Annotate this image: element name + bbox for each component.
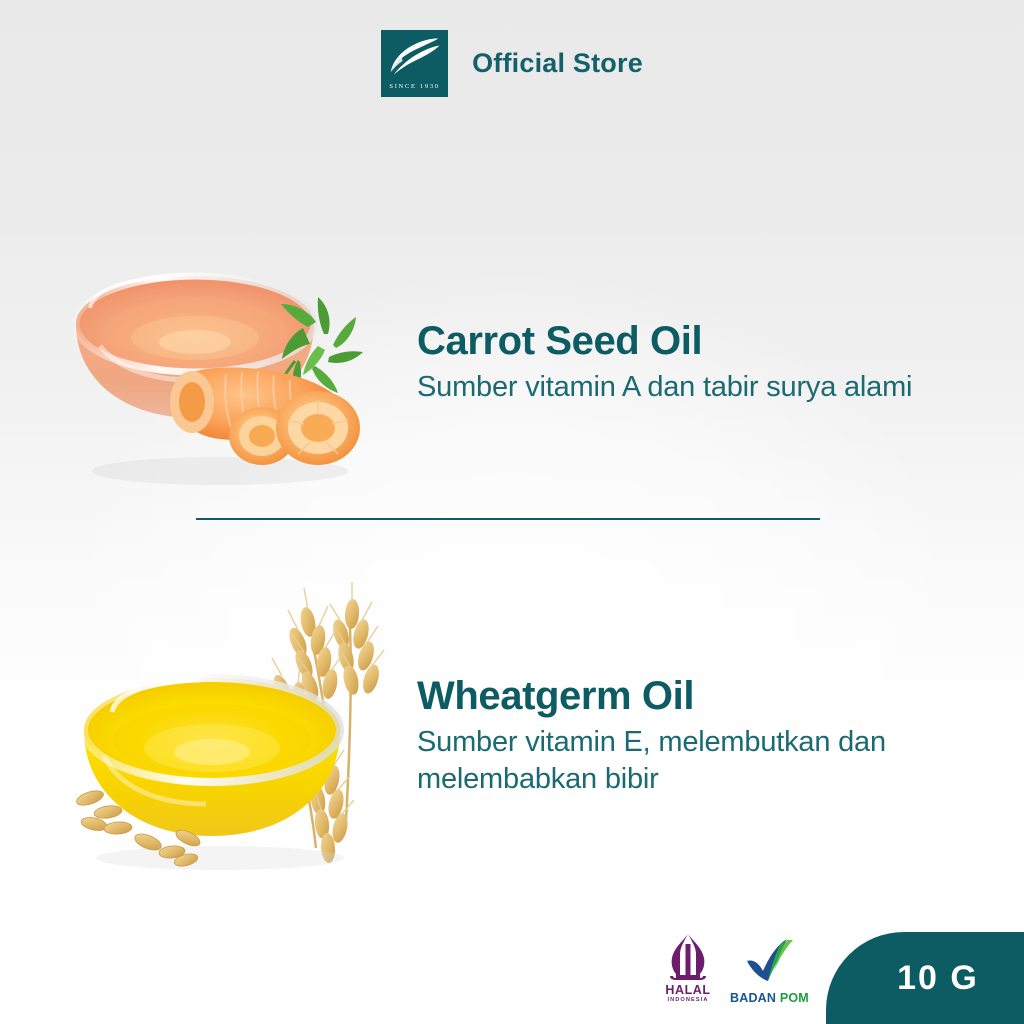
wheatgerm-copy-block: Wheatgerm Oil Sumber vitamin E, melembut… — [405, 675, 937, 799]
halal-gunungan-icon — [662, 932, 714, 982]
weight-badge-text: 10 G — [871, 959, 979, 998]
carrot-copy-block: Carrot Seed Oil Sumber vitamin A dan tab… — [405, 320, 912, 406]
halal-label: HALAL — [662, 984, 714, 997]
product-infographic-canvas: SINCE 1930 Official Store — [0, 0, 1024, 1024]
section-wheatgerm-oil: Wheatgerm Oil Sumber vitamin E, melembut… — [60, 580, 980, 880]
badan-pom-label: BADAN POM — [730, 992, 809, 1005]
halal-certification-badge: HALAL INDONESIA — [662, 932, 714, 1004]
section-carrot-seed-oil: Carrot Seed Oil Sumber vitamin A dan tab… — [60, 228, 960, 493]
badan-pom-label-primary: BADAN — [730, 991, 776, 1005]
carrot-subtitle: Sumber vitamin A dan tabir surya alami — [417, 369, 912, 407]
halal-sublabel: INDONESIA — [662, 997, 714, 1005]
feather-leaf-logo-icon — [388, 36, 441, 76]
badan-pom-checkmark-icon — [741, 937, 797, 989]
brand-header: SINCE 1930 Official Store — [0, 30, 1024, 97]
badan-pom-certification-badge: BADAN POM — [730, 937, 809, 1005]
weight-badge: 10 G — [826, 932, 1024, 1024]
carrot-title: Carrot Seed Oil — [417, 320, 912, 362]
badan-pom-label-secondary: POM — [780, 991, 809, 1005]
wheatgerm-subtitle: Sumber vitamin E, melembutkan dan melemb… — [417, 724, 937, 799]
carrot-oil-bowl-image — [60, 228, 405, 493]
wheatgerm-oil-bowl-icon — [60, 580, 405, 880]
logo-since-text: SINCE 1930 — [381, 83, 448, 90]
carrot-slice-large-icon — [276, 391, 360, 465]
wheatgerm-oil-bowl-image — [60, 580, 405, 880]
wheatgerm-title: Wheatgerm Oil — [417, 675, 937, 717]
carrot-oil-bowl-icon — [60, 228, 405, 493]
certification-badges: HALAL INDONESIA BADAN POM — [662, 932, 809, 1004]
official-store-label: Official Store — [472, 48, 643, 79]
brand-logo: SINCE 1930 — [381, 30, 448, 97]
section-divider — [196, 518, 820, 520]
